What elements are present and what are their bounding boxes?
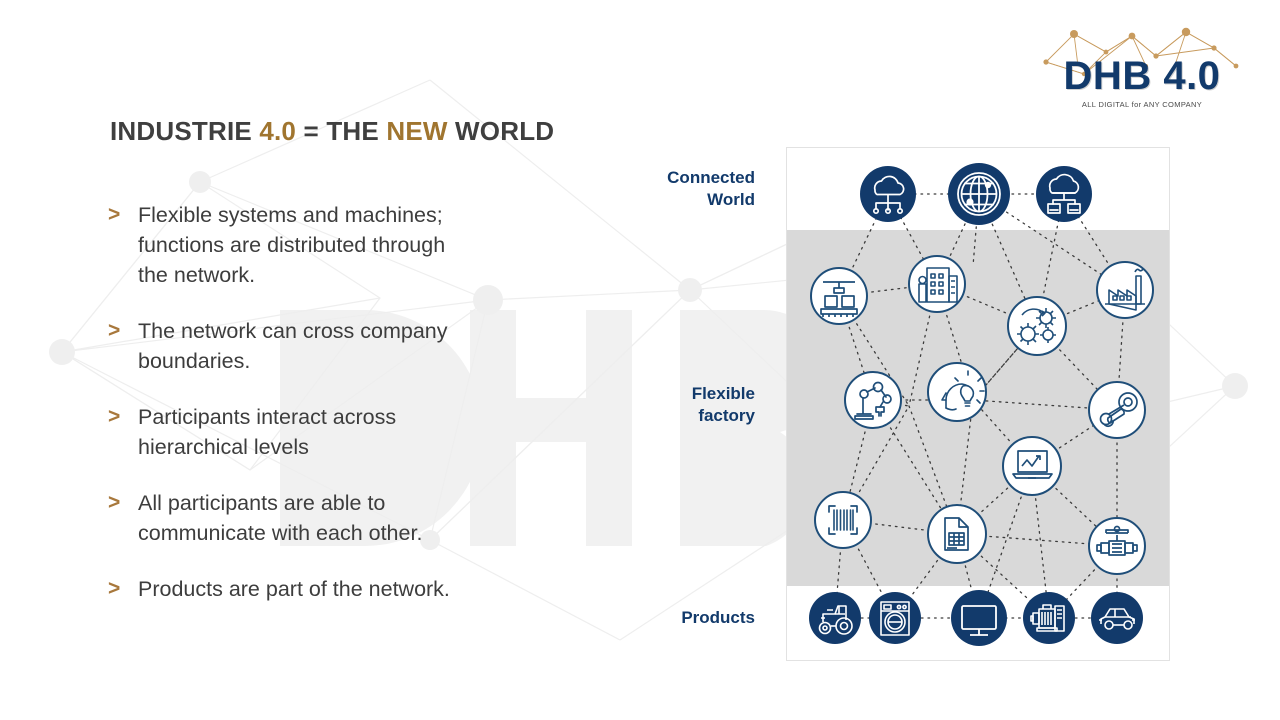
bullet-text: The network can cross company boundaries… [138,316,578,376]
slide-root: DHB 4.0 ALL DIGITAL for ANY COMPANY INDU… [0,0,1280,720]
node-factory-icon [1097,262,1153,318]
node-electric-motor-icon [1023,592,1075,644]
title-segment-2: = THE [296,116,386,146]
title-segment-4: WORLD [448,116,555,146]
node-cloud-network-icon [860,166,916,222]
node-office-building-icon [909,256,965,312]
industry-network-diagram [786,147,1170,661]
node-barcode-scanner-icon [815,492,871,548]
node-laptop-chart-icon [1003,437,1061,495]
node-valve-icon [1089,518,1145,574]
bullet-item: >Products are part of the network. [108,574,578,604]
bullet-marker-icon: > [108,316,138,346]
bullet-marker-icon: > [108,574,138,604]
bullet-text: Participants interact across hierarchica… [138,402,578,462]
bullet-item: >Flexible systems and machines; function… [108,200,578,290]
node-washing-machine-icon [869,592,921,644]
node-monitor-icon [951,590,1007,646]
title-segment-1: 4.0 [259,116,296,146]
diagram-label-products: Products [605,607,755,629]
node-robot-arm-icon [845,372,901,428]
bullet-item: >Participants interact across hierarchic… [108,402,578,462]
bullet-item: >The network can cross company boundarie… [108,316,578,376]
bullet-marker-icon: > [108,402,138,432]
node-globe-icon [948,163,1010,225]
bullet-text: All participants are able to communicate… [138,488,578,548]
logo-tagline: ALL DIGITAL for ANY COMPANY [1036,100,1248,109]
node-gears-process-icon [1008,297,1066,355]
bullet-marker-icon: > [108,200,138,230]
title-segment-0: INDUSTRIE [110,116,259,146]
page-title: INDUSTRIE 4.0 = THE NEW WORLD [110,116,554,147]
bullet-list: >Flexible systems and machines; function… [108,200,578,630]
diagram-label-connected-world: Connected World [605,167,755,211]
node-ai-head-bulb-icon [928,363,986,421]
bullet-text: Products are part of the network. [138,574,578,604]
node-car-icon [1091,592,1143,644]
logo-wordmark: DHB 4.0 [1036,56,1248,96]
diagram-label-flexible-factory: Flexible factory [605,383,755,427]
node-tractor-icon [809,592,861,644]
bullet-item: >All participants are able to communicat… [108,488,578,548]
title-segment-3: NEW [386,116,447,146]
bullet-marker-icon: > [108,488,138,518]
node-cloud-servers-icon [1036,166,1092,222]
node-machine-part-icon [1089,382,1145,438]
bullet-text: Flexible systems and machines; functions… [138,200,578,290]
node-conveyor-belt-icon [811,268,867,324]
node-document-icon [928,505,986,563]
dhb-logo: DHB 4.0 ALL DIGITAL for ANY COMPANY [1036,22,1248,104]
